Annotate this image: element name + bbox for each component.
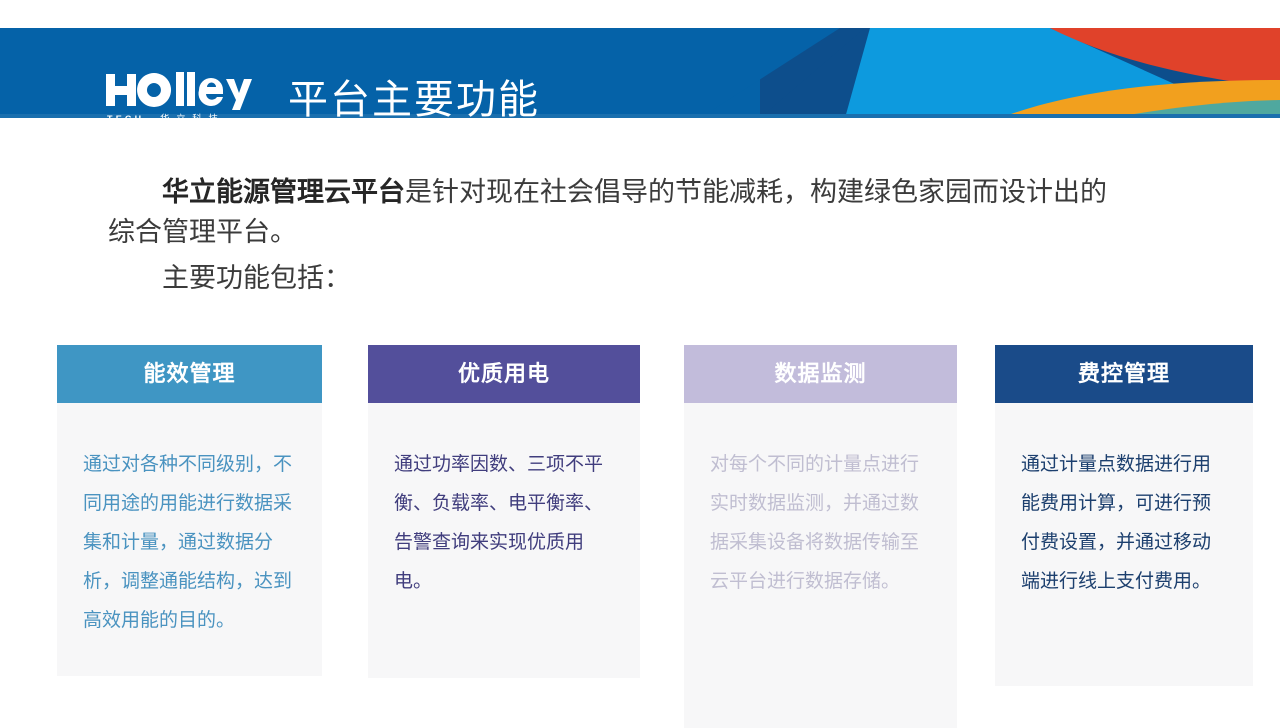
svg-text:华 立 科 技: 华 立 科 技 [160, 113, 220, 118]
feature-card-text: 通过功率因数、三项不平衡、负载率、电平衡率、告警查询来实现优质用电。 [394, 445, 614, 601]
feature-card-text: 通过计量点数据进行用能费用计算，可进行预付费设置，并通过移动端进行线上支付费用。 [1021, 445, 1227, 601]
intro-features-label: 主要功能包括： [108, 258, 1118, 298]
feature-card-body: 通过对各种不同级别，不同用途的用能进行数据采集和计量，通过数据分析，调整通能结构… [57, 403, 322, 676]
feature-card-billing[interactable]: 费控管理 通过计量点数据进行用能费用计算，可进行预付费设置，并通过移动端进行线上… [995, 345, 1253, 686]
feature-card-title: 优质用电 [368, 345, 640, 403]
header-banner: TECH 华 立 科 技 平台主要功能 [0, 28, 1280, 118]
svg-text:TECH: TECH [107, 114, 144, 118]
holley-tech-logo: TECH 华 立 科 技 [104, 70, 264, 118]
intro-block: 华立能源管理云平台是针对现在社会倡导的节能减耗，构建绿色家园而设计出的综合管理平… [108, 172, 1118, 298]
intro-paragraph: 华立能源管理云平台是针对现在社会倡导的节能减耗，构建绿色家园而设计出的综合管理平… [108, 172, 1118, 252]
feature-card-body: 通过功率因数、三项不平衡、负载率、电平衡率、告警查询来实现优质用电。 [368, 403, 640, 678]
feature-card-monitor[interactable]: 数据监测 对每个不同的计量点进行实时数据监测，并通过数据采集设备将数据传输至云平… [684, 345, 957, 728]
feature-card-text: 通过对各种不同级别，不同用途的用能进行数据采集和计量，通过数据分析，调整通能结构… [83, 445, 296, 640]
slide-root: TECH 华 立 科 技 平台主要功能 华立能源管理云平台是针对现在社会倡导的节… [0, 0, 1280, 720]
feature-card-title: 能效管理 [57, 345, 322, 403]
feature-card-energy[interactable]: 能效管理 通过对各种不同级别，不同用途的用能进行数据采集和计量，通过数据分析，调… [57, 345, 322, 676]
page-title: 平台主要功能 [288, 72, 540, 118]
feature-card-body: 对每个不同的计量点进行实时数据监测，并通过数据采集设备将数据传输至云平台进行数据… [684, 403, 957, 728]
feature-card-body: 通过计量点数据进行用能费用计算，可进行预付费设置，并通过移动端进行线上支付费用。 [995, 403, 1253, 686]
feature-card-quality[interactable]: 优质用电 通过功率因数、三项不平衡、负载率、电平衡率、告警查询来实现优质用电。 [368, 345, 640, 678]
feature-card-title: 费控管理 [995, 345, 1253, 403]
intro-lead-bold: 华立能源管理云平台 [162, 177, 405, 207]
feature-card-text: 对每个不同的计量点进行实时数据监测，并通过数据采集设备将数据传输至云平台进行数据… [710, 445, 931, 601]
logo-svg: TECH 华 立 科 技 [104, 70, 264, 118]
feature-card-title: 数据监测 [684, 345, 957, 403]
